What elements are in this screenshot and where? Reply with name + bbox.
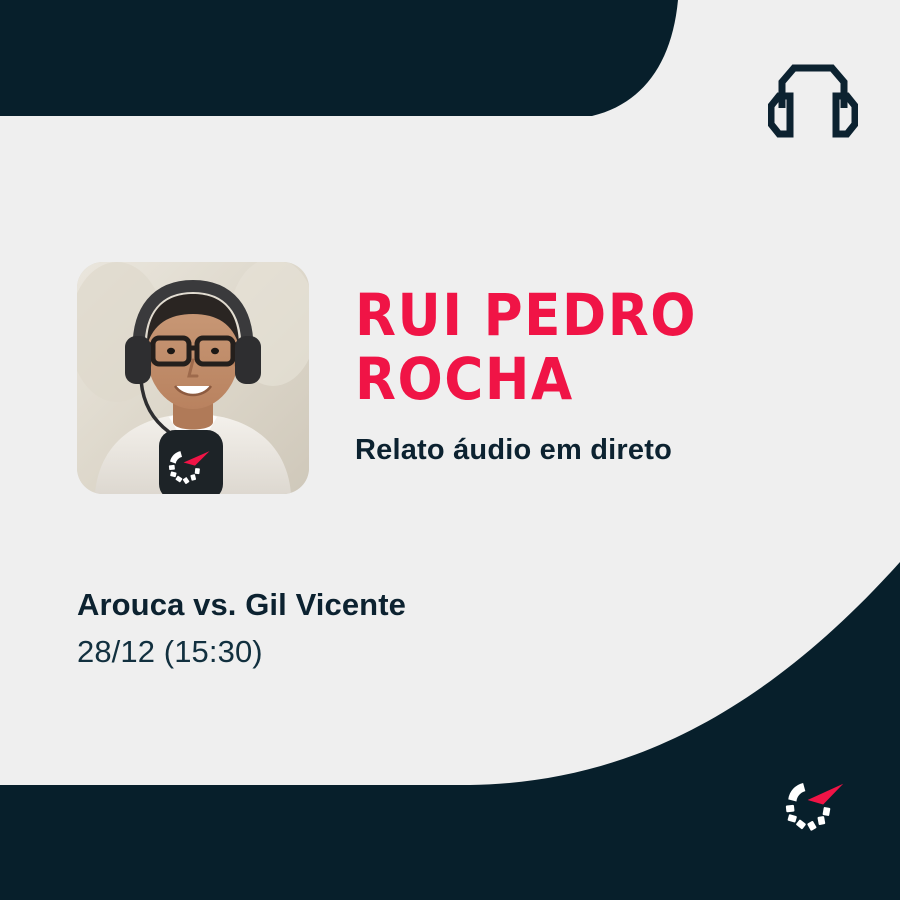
match-fixture: Arouca vs. Gil Vicente <box>77 585 777 625</box>
match-datetime: 28/12 (15:30) <box>77 633 777 671</box>
presenter-photo <box>77 262 309 494</box>
headphones-icon <box>768 56 858 142</box>
presenter-name-line-1: RUI PEDRO <box>355 283 865 347</box>
presenter-name-line-2: ROCHA <box>355 347 865 411</box>
presenter-headline: RUI PEDRO ROCHA Relato áudio em direto <box>355 283 855 467</box>
match-info: Arouca vs. Gil Vicente 28/12 (15:30) <box>77 585 777 671</box>
promo-card: RUI PEDRO ROCHA Relato áudio em direto A… <box>0 0 900 900</box>
maisfutebol-gauge-logo-icon <box>784 780 846 832</box>
presenter-role: Relato áudio em direto <box>355 433 855 467</box>
top-navy-band <box>0 0 678 116</box>
